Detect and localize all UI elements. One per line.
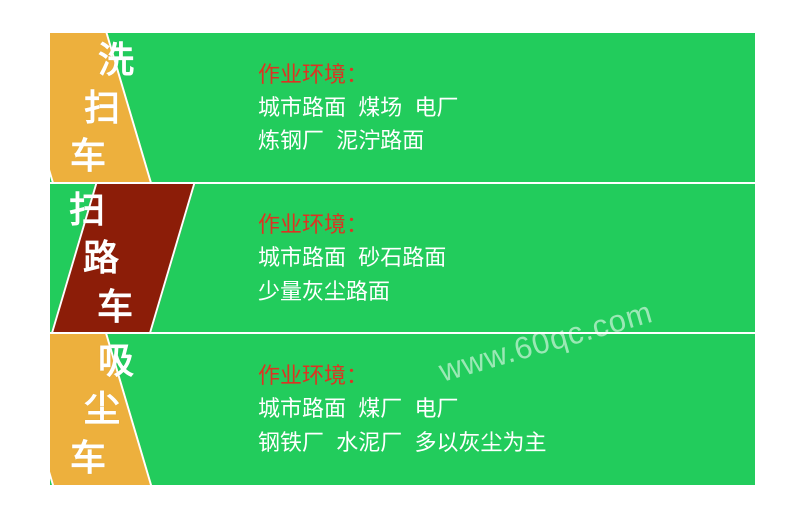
- vehicle-label-char: 尘: [84, 386, 120, 432]
- environment-heading: 作业环境：: [258, 364, 755, 388]
- environment-line: 城市路面 煤厂 电厂: [258, 397, 755, 421]
- vehicle-label-text: 洗 扫 车: [84, 37, 120, 179]
- row-divider: [50, 332, 755, 334]
- vehicle-label-char: 车: [70, 435, 106, 481]
- environment-line: 炼钢厂 泥泞路面: [258, 129, 755, 153]
- row-divider: [50, 182, 755, 184]
- vehicle-row: 吸 尘 车 作业环境： 城市路面 煤厂 电厂 钢铁厂 水泥厂 多以灰尘为主: [50, 334, 755, 485]
- vehicle-label-char: 吸: [98, 338, 134, 384]
- vehicle-label-char: 扫: [84, 85, 120, 131]
- vehicle-comparison-panel: 洗 扫 车 作业环境： 城市路面 煤场 电厂 炼钢厂 泥泞路面 扫 路 车 作业…: [50, 33, 755, 485]
- vehicle-description: 作业环境： 城市路面 煤场 电厂 炼钢厂 泥泞路面: [258, 33, 755, 183]
- vehicle-label-tab: 吸 尘 车: [52, 334, 152, 485]
- vehicle-label-char: 车: [70, 133, 106, 179]
- vehicle-description: 作业环境： 城市路面 砂石路面 少量灰尘路面: [258, 184, 755, 333]
- vehicle-label-char: 路: [83, 235, 119, 281]
- environment-line: 少量灰尘路面: [258, 280, 755, 304]
- environment-line: 钢铁厂 水泥厂 多以灰尘为主: [258, 431, 755, 455]
- vehicle-label-tab: 扫 路 车: [51, 184, 151, 333]
- vehicle-label-char: 扫: [69, 187, 105, 233]
- vehicle-description: 作业环境： 城市路面 煤厂 电厂 钢铁厂 水泥厂 多以灰尘为主: [258, 334, 755, 485]
- vehicle-label-tab: 洗 扫 车: [52, 33, 152, 183]
- vehicle-row: 扫 路 车 作业环境： 城市路面 砂石路面 少量灰尘路面: [50, 184, 755, 333]
- environment-heading: 作业环境：: [258, 213, 755, 237]
- environment-line: 城市路面 砂石路面: [258, 246, 755, 270]
- environment-heading: 作业环境：: [258, 63, 755, 87]
- vehicle-label-text: 吸 尘 车: [84, 338, 120, 480]
- environment-line: 城市路面 煤场 电厂: [258, 96, 755, 120]
- vehicle-label-text: 扫 路 车: [83, 187, 119, 329]
- vehicle-label-char: 洗: [98, 37, 134, 83]
- vehicle-label-char: 车: [97, 284, 133, 330]
- vehicle-row: 洗 扫 车 作业环境： 城市路面 煤场 电厂 炼钢厂 泥泞路面: [50, 33, 755, 183]
